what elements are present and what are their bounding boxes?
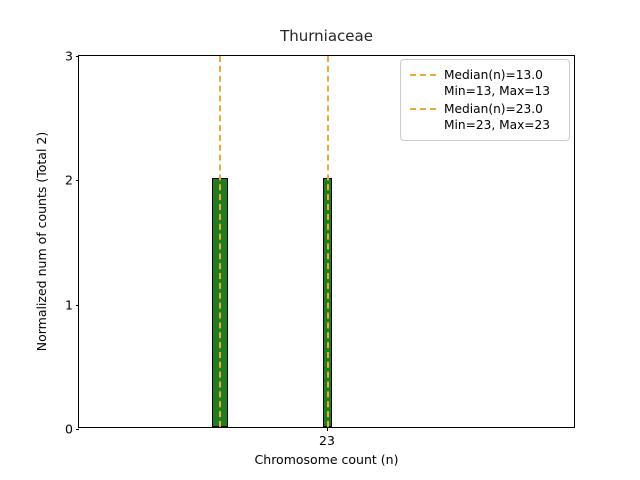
chart-title: Thurniaceae: [78, 27, 575, 45]
ytick-mark: [76, 180, 80, 181]
legend: Median(n)=13.0 Min=13, Max=13 Median(n)=…: [400, 59, 570, 141]
ytick-mark: [76, 429, 80, 430]
legend-label-line2: Min=23, Max=23: [444, 117, 550, 133]
legend-entry-text: Median(n)=23.0 Min=23, Max=23: [444, 101, 550, 133]
figure-canvas: Thurniaceae 0 1 2 3 23: [0, 0, 640, 480]
ytick-label: 1: [65, 297, 73, 312]
legend-entry-median-13: Median(n)=13.0 Min=13, Max=13: [410, 67, 560, 99]
ytick-label: 2: [65, 173, 73, 188]
median-vline-13: [219, 56, 221, 427]
legend-label-line1: Median(n)=23.0: [444, 101, 550, 117]
legend-entry-median-23: Median(n)=23.0 Min=23, Max=23: [410, 101, 560, 133]
plot-area: 0 1 2 3 23 Median(n)=13.0: [78, 55, 575, 428]
xtick-label-23: 23: [319, 433, 335, 448]
dashed-line-icon: [410, 108, 436, 110]
ytick-mark: [76, 305, 80, 306]
xtick-mark-23: [327, 427, 328, 431]
y-axis-label: Normalized num of counts (Total 2): [34, 55, 54, 428]
legend-entry-text: Median(n)=13.0 Min=13, Max=13: [444, 67, 550, 99]
ytick-label: 3: [65, 49, 73, 64]
dashed-line-icon: [410, 74, 436, 76]
median-vline-23: [327, 56, 329, 427]
ytick-mark: [76, 56, 80, 57]
ytick-label: 0: [65, 422, 73, 437]
legend-label-line2: Min=13, Max=13: [444, 83, 550, 99]
x-axis-label: Chromosome count (n): [78, 452, 575, 467]
legend-label-line1: Median(n)=13.0: [444, 67, 550, 83]
